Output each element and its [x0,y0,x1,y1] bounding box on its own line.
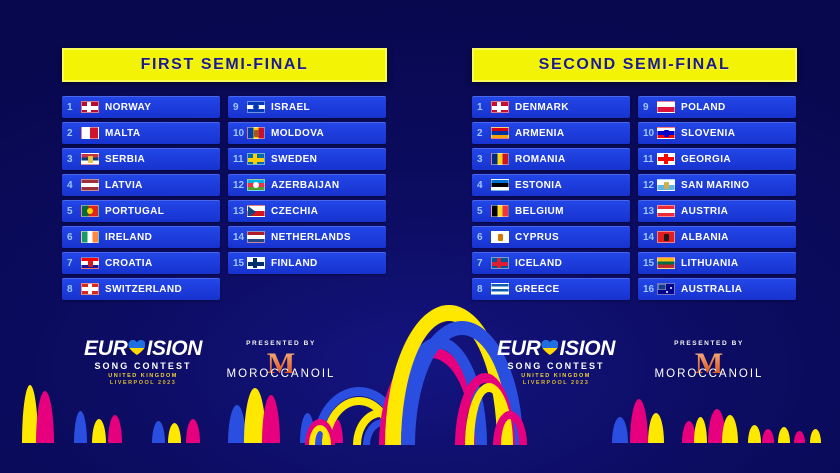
fan-arc [385,305,513,445]
rank-number: 9 [643,102,657,113]
list-item[interactable]: 1 DENMARK [472,96,630,118]
flag-slovenia-icon [657,127,675,139]
wave-arch [74,411,87,443]
flag-romania-icon [491,153,509,165]
flag-switzerland-icon [81,283,99,295]
eurovision-word-right: ISION [559,338,615,359]
country-name: POLAND [681,102,726,113]
list-item[interactable]: 13 CZECHIA [228,200,386,222]
rank-number: 11 [233,154,247,165]
wave-arch [92,419,106,443]
wave-arch [794,431,805,443]
flag-malta-icon [81,127,99,139]
moroccanoil-logo: M MOROCCANOIL [650,354,768,380]
second-semifinal-title: SECOND SEMI-FINAL [539,56,731,74]
first-semifinal-column-1: 1 NORWAY 2 MALTA 3 SERBIA 4 L [62,96,220,300]
flag-lithuania-icon [657,257,675,269]
flag-star [666,291,668,293]
wave-arch [748,425,761,443]
wave-arch [708,409,726,443]
eurovision-wordmark: EUR ISION [84,338,202,359]
fan-arc [465,383,513,445]
country-name: IRELAND [105,232,152,243]
flag-czechia-icon [247,205,265,217]
list-item[interactable]: 3 SERBIA [62,148,220,170]
sponsor-logo-left: PRESENTED BY M MOROCCANOIL [222,340,340,380]
host-city-year-label: LIVERPOOL 2023 [497,380,615,386]
wave-arch [108,415,122,443]
wave-arch [262,395,280,443]
wave-arch [152,421,165,443]
flag-azerbaijan-icon [247,179,265,191]
list-item[interactable]: 7 CROATIA [62,252,220,274]
list-item[interactable]: 4 ESTONIA [472,174,630,196]
flag-finland-icon [247,257,265,269]
wave-arch [228,405,246,443]
list-item[interactable]: 10 MOLDOVA [228,122,386,144]
list-item[interactable]: 8 SWITZERLAND [62,278,220,300]
list-item[interactable]: 15 FINLAND [228,252,386,274]
wave-arch [22,385,38,443]
country-name: MALTA [105,128,141,139]
rank-number: 8 [477,284,491,295]
rank-number: 6 [67,232,81,243]
country-name: CROATIA [105,258,153,269]
list-item[interactable]: 5 PORTUGAL [62,200,220,222]
list-item[interactable]: 9 POLAND [638,96,796,118]
sponsor-logo-right: PRESENTED BY M MOROCCANOIL [650,340,768,380]
country-name: CYPRUS [515,232,559,243]
flag-poland-icon [657,101,675,113]
list-item[interactable]: 2 ARMENIA [472,122,630,144]
flag-armenia-icon [491,127,509,139]
second-semifinal-column-2: 9 POLAND 10 SLOVENIA 11 GEORGIA 12 [638,96,796,300]
flag-croatia-icon [81,257,99,269]
wave-arch [810,429,821,443]
rank-number: 13 [233,206,247,217]
list-item[interactable]: 6 IRELAND [62,226,220,248]
moroccanoil-wordmark: MOROCCANOIL [650,368,768,380]
flag-netherlands-icon [247,231,265,243]
eurovision-semifinal-graphic: FIRST SEMI-FINAL 1 NORWAY 2 MALTA 3 SERB… [0,0,840,473]
rank-number: 1 [477,102,491,113]
country-name: ICELAND [515,258,562,269]
list-item[interactable]: 4 LATVIA [62,174,220,196]
list-item[interactable]: 6 CYPRUS [472,226,630,248]
rank-number: 4 [477,180,491,191]
flag-australia-icon [657,283,675,295]
second-semifinal-column-1: 1 DENMARK 2 ARMENIA 3 ROMANIA 4 [472,96,630,300]
country-name: CZECHIA [271,206,318,217]
rank-number: 14 [233,232,247,243]
wave-arch [168,423,181,443]
country-name: NORWAY [105,102,151,113]
country-name: ALBANIA [681,232,729,243]
list-item[interactable]: 2 MALTA [62,122,220,144]
rank-number: 7 [67,258,81,269]
flag-belgium-icon [491,205,509,217]
flag-greece-icon [491,283,509,295]
country-name: AUSTRIA [681,206,728,217]
flag-moldova-icon [247,127,265,139]
presented-by-label: PRESENTED BY [650,340,768,347]
rank-number: 12 [233,180,247,191]
country-name: GREECE [515,284,560,295]
fan-arc [313,387,405,445]
wave-arch [316,423,329,443]
eurovision-word-right: ISION [146,338,202,359]
list-item[interactable]: 7 ICELAND [472,252,630,274]
list-item[interactable]: 14 NETHERLANDS [228,226,386,248]
country-name: DENMARK [515,102,569,113]
flag-latvia-icon [81,179,99,191]
first-semifinal-column-2: 9 ISRAEL 10 MOLDOVA 11 SWEDEN 12 [228,96,386,300]
rank-number: 11 [643,154,657,165]
wave-arch [762,429,774,443]
wave-arch [244,388,266,443]
rank-number: 10 [233,128,247,139]
country-name: LATVIA [105,180,143,191]
wave-arch [682,421,696,443]
rank-number: 6 [477,232,491,243]
list-item[interactable]: 13 AUSTRIA [638,200,796,222]
rank-number: 4 [67,180,81,191]
country-name: ISRAEL [271,102,310,113]
fan-arc [379,347,483,445]
fan-arc [363,419,403,445]
flag-austria-icon [657,205,675,217]
flag-sweden-icon [247,153,265,165]
host-country-label: UNITED KINGDOM [497,373,615,379]
wave-arch [330,419,343,443]
list-item[interactable]: 11 GEORGIA [638,148,796,170]
rank-number: 13 [643,206,657,217]
list-item[interactable]: 3 ROMANIA [472,148,630,170]
rank-number: 15 [643,258,657,269]
flag-denmark-icon [491,101,509,113]
rank-number: 16 [643,284,657,295]
list-item[interactable]: 14 ALBANIA [638,226,796,248]
list-item[interactable]: 16 AUSTRALIA [638,278,796,300]
rank-number: 15 [233,258,247,269]
list-item[interactable]: 9 ISRAEL [228,96,386,118]
heart-icon [541,340,558,356]
fan-arc [493,411,527,445]
country-name: ROMANIA [515,154,566,165]
country-name: MOLDOVA [271,128,324,139]
wave-arch [722,415,738,443]
first-semifinal-panel: FIRST SEMI-FINAL 1 NORWAY 2 MALTA 3 SERB… [62,48,387,300]
wave-arch [36,391,54,443]
flag-portugal-icon [81,205,99,217]
country-name: ARMENIA [515,128,564,139]
fan-arc [391,337,487,445]
rank-number: 1 [67,102,81,113]
flag-iceland-icon [491,257,509,269]
song-contest-label: SONG CONTEST [497,361,615,371]
fan-arc [309,425,331,445]
flag-ireland-icon [81,231,99,243]
eurovision-logo-left: EUR ISION SONG CONTEST UNITED KINGDOM LI… [84,338,202,386]
country-name: SWEDEN [271,154,317,165]
country-name: SWITZERLAND [105,284,182,295]
list-item[interactable]: 11 SWEDEN [228,148,386,170]
wave-arch [778,427,790,443]
rank-number: 9 [233,102,247,113]
fan-arc [353,409,409,445]
country-name: NETHERLANDS [271,232,351,243]
wave-arch [186,419,200,443]
rank-number: 10 [643,128,657,139]
wave-arch [630,399,648,443]
country-name: SLOVENIA [681,128,735,139]
country-name: SAN MARINO [681,180,749,191]
eurovision-wordmark: EUR ISION [497,338,615,359]
country-name: ESTONIA [515,180,562,191]
flag-canton [658,284,666,290]
list-item[interactable]: 12 AZERBAIJAN [228,174,386,196]
rank-number: 3 [67,154,81,165]
moroccanoil-wordmark: MOROCCANOIL [222,368,340,380]
moroccanoil-logo: M MOROCCANOIL [222,354,340,380]
song-contest-label: SONG CONTEST [84,361,202,371]
list-item[interactable]: 15 LITHUANIA [638,252,796,274]
fan-arc [305,419,335,445]
second-semifinal-panel: SECOND SEMI-FINAL 1 DENMARK 2 ARMENIA 3 … [472,48,797,300]
rank-number: 2 [477,128,491,139]
country-name: PORTUGAL [105,206,164,217]
flag-albania-icon [657,231,675,243]
wave-arch [694,417,707,443]
heart-icon [128,340,145,356]
country-name: GEORGIA [681,154,731,165]
flag-serbia-icon [81,153,99,165]
flag-norway-icon [81,101,99,113]
rank-number: 2 [67,128,81,139]
first-semifinal-banner: FIRST SEMI-FINAL [62,48,387,82]
flag-georgia-icon [657,153,675,165]
flag-star [670,287,672,289]
list-item[interactable]: 1 NORWAY [62,96,220,118]
host-country-label: UNITED KINGDOM [84,373,202,379]
rank-number: 7 [477,258,491,269]
eurovision-word-left: EUR [84,338,127,359]
wave-arch [612,417,628,443]
rank-number: 3 [477,154,491,165]
second-semifinal-banner: SECOND SEMI-FINAL [472,48,797,82]
rank-number: 14 [643,232,657,243]
flag-estonia-icon [491,179,509,191]
list-item[interactable]: 10 SLOVENIA [638,122,796,144]
wave-arch [648,413,664,443]
flag-israel-icon [247,101,265,113]
country-name: AUSTRALIA [681,284,742,295]
flag-wedge [248,206,256,217]
host-city-year-label: LIVERPOOL 2023 [84,380,202,386]
rank-number: 5 [67,206,81,217]
rank-number: 8 [67,284,81,295]
flag-san-marino-icon [657,179,675,191]
list-item[interactable]: 8 GREECE [472,278,630,300]
flag-cyprus-icon [491,231,509,243]
country-name: AZERBAIJAN [271,180,339,191]
country-name: BELGIUM [515,206,564,217]
rank-number: 12 [643,180,657,191]
eurovision-word-left: EUR [497,338,540,359]
wave-arch [300,413,315,443]
presented-by-label: PRESENTED BY [222,340,340,347]
list-item[interactable]: 5 BELGIUM [472,200,630,222]
country-name: FINLAND [271,258,318,269]
country-name: LITHUANIA [681,258,738,269]
rank-number: 5 [477,206,491,217]
first-semifinal-title: FIRST SEMI-FINAL [141,56,309,74]
fan-arc [322,397,396,445]
list-item[interactable]: 12 SAN MARINO [638,174,796,196]
eurovision-logo-right: EUR ISION SONG CONTEST UNITED KINGDOM LI… [497,338,615,386]
country-name: SERBIA [105,154,145,165]
